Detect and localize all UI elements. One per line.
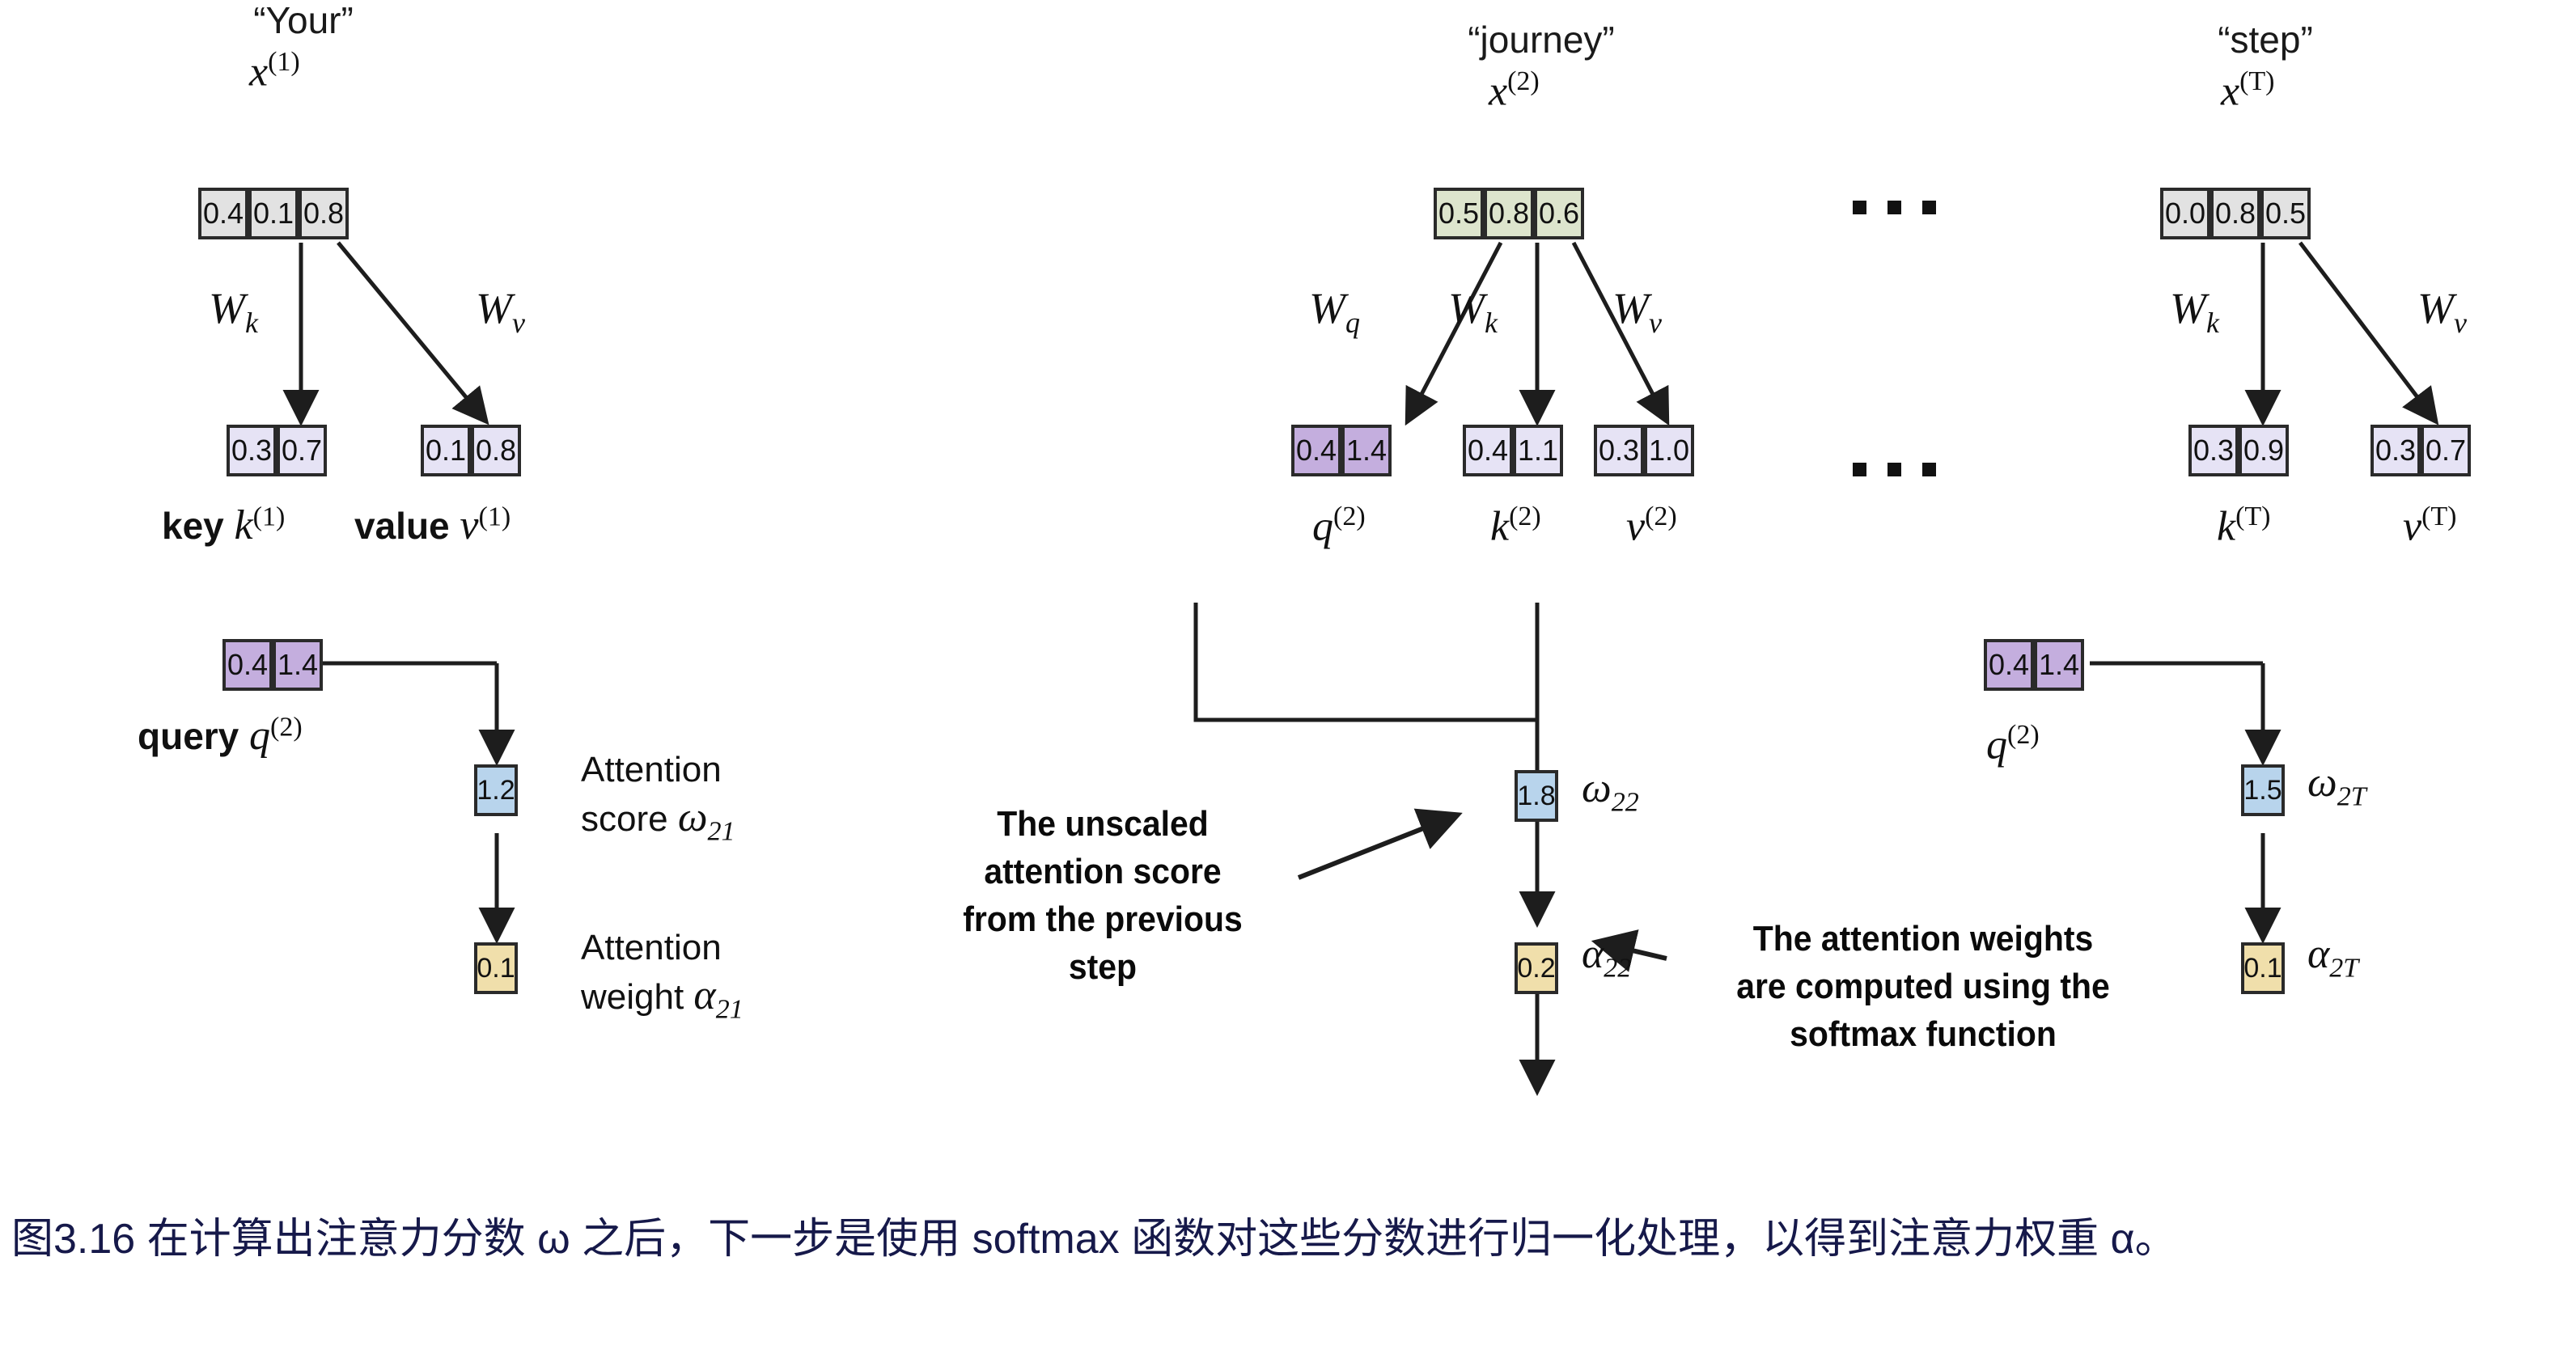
projection-wv-2: Wv bbox=[1612, 283, 1662, 340]
embedding-vector-1: 0.4 0.1 0.8 bbox=[198, 188, 349, 239]
key-cell: 0.9 bbox=[2239, 425, 2289, 476]
annotation-unscaled-score: The unscaled attention score from the pr… bbox=[926, 801, 1279, 992]
annotation-softmax-note: The attention weights are computed using… bbox=[1693, 916, 2152, 1059]
weight-cell: 0.1 bbox=[474, 942, 518, 994]
key-label-1: key k(1) bbox=[162, 502, 285, 549]
key-cell: 1.1 bbox=[1513, 425, 1563, 476]
query-cell: 0.4 bbox=[222, 639, 273, 691]
embedding-cell: 0.5 bbox=[1434, 188, 1484, 239]
query-vector-2: 0.4 1.4 bbox=[1291, 425, 1392, 476]
token-word-2: “journey” bbox=[1424, 18, 1659, 61]
token-word-3: “step” bbox=[2176, 18, 2354, 61]
score-caption-1: Attention score ω21 bbox=[581, 748, 735, 849]
score-cell: 1.8 bbox=[1515, 770, 1558, 822]
query-cell: 1.4 bbox=[2034, 639, 2084, 691]
embedding-vector-3: 0.0 0.8 0.5 bbox=[2160, 188, 2311, 239]
weight-symbol-3: α2T bbox=[2307, 930, 2358, 984]
value-cell: 0.8 bbox=[471, 425, 521, 476]
projection-wk-2: Wk bbox=[1448, 283, 1498, 340]
weight-cell: 0.1 bbox=[2241, 942, 2285, 994]
score-cell: 1.5 bbox=[2241, 764, 2285, 816]
weight-box-3: 0.1 bbox=[2241, 942, 2285, 994]
weight-caption-1: Attention weight α21 bbox=[581, 926, 744, 1026]
ellipsis-bottom bbox=[1853, 463, 1936, 476]
value-vector-1: 0.1 0.8 bbox=[421, 425, 521, 476]
x-label-2: x(2) bbox=[1489, 66, 1540, 115]
value-cell: 0.3 bbox=[1594, 425, 1644, 476]
query-cell: 1.4 bbox=[1341, 425, 1392, 476]
value-cell: 0.3 bbox=[2371, 425, 2421, 476]
figure-caption: 图3.16 在计算出注意力分数 ω 之后，下一步是使用 softmax 函数对这… bbox=[11, 1210, 2560, 1270]
value-vector-2: 0.3 1.0 bbox=[1594, 425, 1694, 476]
key-vector-1: 0.3 0.7 bbox=[227, 425, 327, 476]
key-vector-2: 0.4 1.1 bbox=[1463, 425, 1563, 476]
value-label-1: value v(1) bbox=[354, 502, 511, 549]
query-label-2: q(2) bbox=[1312, 502, 1366, 550]
projection-wq-2: Wq bbox=[1309, 283, 1360, 340]
weight-box-1: 0.1 bbox=[474, 942, 518, 994]
embedding-cell: 0.5 bbox=[2260, 188, 2311, 239]
embedding-cell: 0.8 bbox=[1484, 188, 1534, 239]
query-vector-3: 0.4 1.4 bbox=[1984, 639, 2084, 691]
query-vector-1: 0.4 1.4 bbox=[222, 639, 323, 691]
token-word-1: “Your” bbox=[202, 0, 405, 42]
weight-cell: 0.2 bbox=[1515, 942, 1558, 994]
key-label-2: k(2) bbox=[1490, 502, 1541, 550]
query-cell: 0.4 bbox=[1291, 425, 1341, 476]
projection-wk-1: Wk bbox=[209, 283, 258, 340]
key-cell: 0.4 bbox=[1463, 425, 1513, 476]
score-symbol-3: ω2T bbox=[2307, 759, 2366, 812]
embedding-cell: 0.0 bbox=[2160, 188, 2210, 239]
value-label-3: v(T) bbox=[2403, 502, 2457, 550]
query-cell: 0.4 bbox=[1984, 639, 2034, 691]
projection-wv-3: Wv bbox=[2417, 283, 2467, 340]
score-cell: 1.2 bbox=[474, 764, 518, 816]
connector-arrows bbox=[0, 0, 2576, 1189]
query-label-3: q(2) bbox=[1986, 720, 2040, 768]
weight-symbol-2: α22 bbox=[1582, 930, 1631, 984]
score-box-3: 1.5 bbox=[2241, 764, 2285, 816]
score-symbol-2: ω22 bbox=[1582, 764, 1639, 818]
value-cell: 1.0 bbox=[1644, 425, 1694, 476]
embedding-cell: 0.1 bbox=[248, 188, 299, 239]
key-label-3: k(T) bbox=[2217, 502, 2271, 550]
embedding-cell: 0.4 bbox=[198, 188, 248, 239]
projection-wk-3: Wk bbox=[2170, 283, 2219, 340]
weight-box-2: 0.2 bbox=[1515, 942, 1558, 994]
score-box-1: 1.2 bbox=[474, 764, 518, 816]
value-label-2: v(2) bbox=[1626, 502, 1677, 550]
query-label-1: query q(2) bbox=[138, 712, 303, 760]
embedding-cell: 0.6 bbox=[1534, 188, 1584, 239]
embedding-cell: 0.8 bbox=[2210, 188, 2260, 239]
attention-diagram: “Your” x(1) 0.4 0.1 0.8 Wk Wv 0.3 0.7 ke… bbox=[0, 0, 2576, 1189]
embedding-vector-2: 0.5 0.8 0.6 bbox=[1434, 188, 1584, 239]
value-vector-3: 0.3 0.7 bbox=[2371, 425, 2471, 476]
key-cell: 0.7 bbox=[277, 425, 327, 476]
key-vector-3: 0.3 0.9 bbox=[2188, 425, 2289, 476]
embedding-cell: 0.8 bbox=[299, 188, 349, 239]
key-cell: 0.3 bbox=[2188, 425, 2239, 476]
projection-wv-1: Wv bbox=[476, 283, 525, 340]
query-cell: 1.4 bbox=[273, 639, 323, 691]
x-label-3: x(T) bbox=[2221, 66, 2275, 115]
key-cell: 0.3 bbox=[227, 425, 277, 476]
value-cell: 0.7 bbox=[2421, 425, 2471, 476]
x-label-1: x(1) bbox=[249, 47, 300, 95]
score-box-2: 1.8 bbox=[1515, 770, 1558, 822]
ellipsis-top bbox=[1853, 201, 1936, 214]
value-cell: 0.1 bbox=[421, 425, 471, 476]
